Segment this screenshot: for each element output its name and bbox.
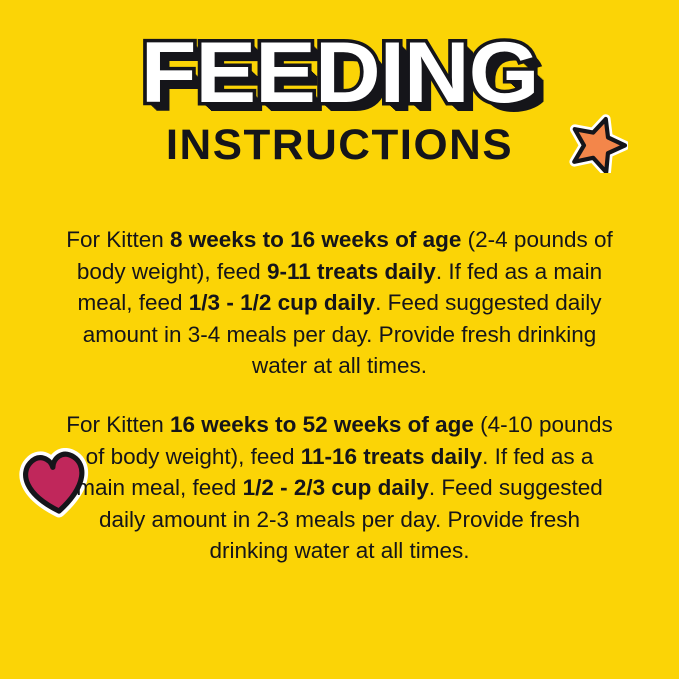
feeding-paragraph-kitten-8-16-weeks: For Kitten 8 weeks to 16 weeks of age (2… — [0, 224, 679, 382]
page-subtitle: INSTRUCTIONS — [0, 122, 679, 168]
paragraph-text: For Kitten 16 weeks to 52 weeks of age (… — [61, 409, 619, 567]
page-title: FEEDING — [141, 30, 539, 116]
paragraph-text: For Kitten 8 weeks to 16 weeks of age (2… — [57, 224, 623, 382]
title-block: FEEDING INSTRUCTIONS — [0, 30, 679, 168]
feeding-instructions-poster: FEEDING INSTRUCTIONS For Kitten 8 weeks … — [0, 0, 679, 679]
feeding-paragraph-kitten-16-52-weeks: For Kitten 16 weeks to 52 weeks of age (… — [0, 409, 679, 567]
